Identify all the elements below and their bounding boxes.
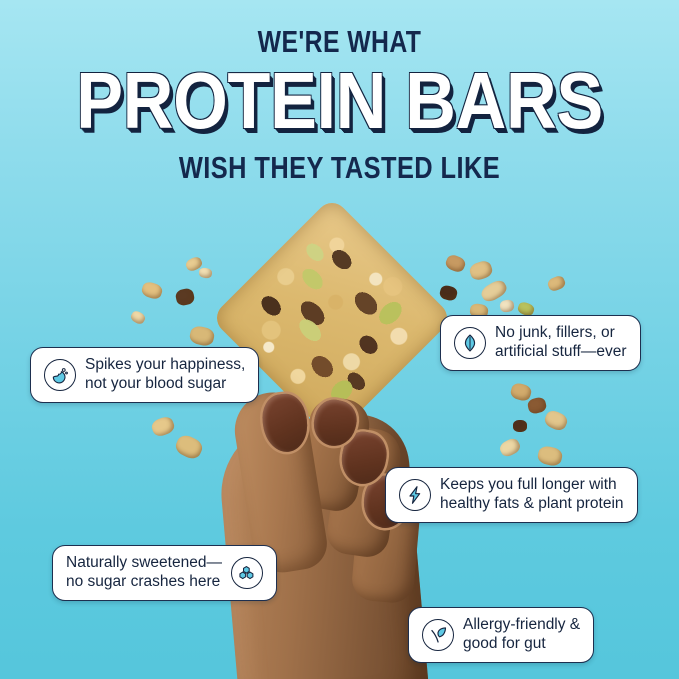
granola-crumb (438, 284, 458, 302)
granola-crumb (140, 280, 164, 300)
callout-allergy-friendly-text: Allergy-friendly & good for gut (463, 616, 580, 654)
callout-keeps-full-text: Keeps you full longer with healthy fats … (440, 476, 624, 514)
granola-crumb (175, 287, 196, 306)
granola-crumb (513, 420, 527, 432)
lightning-bolt-icon (399, 479, 431, 511)
granola-crumb (173, 432, 205, 461)
callout-no-junk-text: No junk, fillers, or artificial stuff—ev… (495, 324, 627, 362)
callout-naturally-sweetened: Naturally sweetened— no sugar crashes he… (52, 545, 277, 601)
headline-line-2: PROTEIN BARS (41, 62, 639, 140)
sugar-cubes-icon (231, 557, 263, 589)
callout-naturally-sweetened-text: Naturally sweetened— no sugar crashes he… (66, 554, 222, 592)
granola-crumb (498, 436, 523, 459)
callout-no-junk: No junk, fillers, or artificial stuff—ev… (440, 315, 641, 371)
droplet-bubbles-icon (44, 359, 76, 391)
product-marketing-image: WE'RE WHAT PROTEIN BARS WISH THEY TASTED… (0, 0, 679, 679)
granola-crumb (499, 299, 515, 313)
granola-crumb (444, 253, 467, 274)
granola-crumb (198, 267, 212, 279)
granola-crumb (536, 445, 563, 468)
granola-crumb (546, 274, 567, 292)
granola-crumb (188, 325, 215, 348)
headline-line-1: WE'RE WHAT (68, 26, 611, 58)
granola-crumb (542, 408, 569, 432)
headline-block: WE'RE WHAT PROTEIN BARS WISH THEY TASTED… (0, 26, 679, 186)
leaf-shield-icon (454, 327, 486, 359)
callout-happiness-text: Spikes your happiness, not your blood su… (85, 356, 245, 394)
sprout-leaf-icon (422, 619, 454, 651)
callout-happiness: Spikes your happiness, not your blood su… (30, 347, 259, 403)
headline-line-3: WISH THEY TASTED LIKE (61, 150, 618, 186)
callout-allergy-friendly: Allergy-friendly & good for gut (408, 607, 594, 663)
callout-keeps-full: Keeps you full longer with healthy fats … (385, 467, 638, 523)
granola-crumb (129, 309, 147, 326)
granola-crumb (526, 396, 547, 415)
granola-crumb (150, 415, 176, 438)
granola-crumb (468, 259, 494, 282)
